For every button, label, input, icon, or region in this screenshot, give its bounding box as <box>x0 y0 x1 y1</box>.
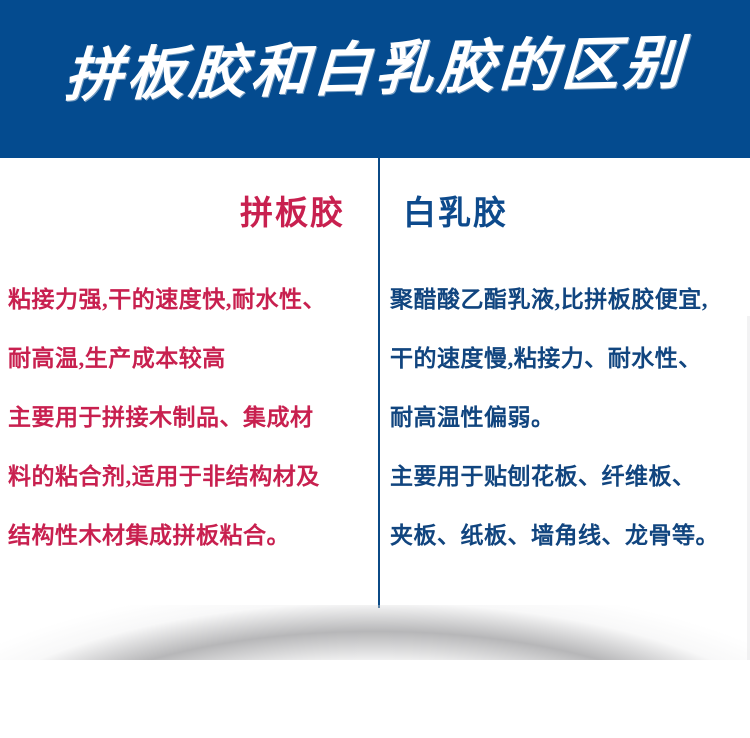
text-line: 主要用于拼接木制品、集成材 <box>0 388 370 447</box>
column-left-heading: 拼板胶 <box>240 194 345 234</box>
text-line: 料的粘合剂,适用于非结构材及 <box>0 447 370 506</box>
text-line: 聚醋酸乙酯乳液,比拼板胶便宜, <box>382 270 750 329</box>
text-line: 夹板、纸板、墙角线、龙骨等。 <box>382 506 750 565</box>
column-right-body: 聚醋酸乙酯乳液,比拼板胶便宜, 干的速度慢,粘接力、耐水性、 耐高温性偏弱。 主… <box>382 270 750 565</box>
column-left-body: 粘接力强,干的速度快,耐水性、 耐高温,生产成本较高 主要用于拼接木制品、集成材… <box>0 270 370 565</box>
text-line: 结构性木材集成拼板粘合。 <box>0 506 370 565</box>
column-right-heading: 白乳胶 <box>403 194 508 234</box>
text-line: 耐高温,生产成本较高 <box>0 329 370 388</box>
page-title: 拼板胶和白乳胶的区别 <box>0 26 750 114</box>
comparison-poster: 拼板胶和白乳胶的区别 拼板胶 粘接力强,干的速度快,耐水性、 耐高温,生产成本较… <box>0 0 750 738</box>
text-line: 主要用于贴刨花板、纤维板、 <box>382 447 750 506</box>
text-line: 粘接力强,干的速度快,耐水性、 <box>0 270 370 329</box>
text-line: 耐高温性偏弱。 <box>382 388 750 447</box>
header-banner: 拼板胶和白乳胶的区别 <box>0 0 750 158</box>
text-line: 干的速度慢,粘接力、耐水性、 <box>382 329 750 388</box>
column-divider <box>378 158 380 608</box>
bottom-white-area <box>0 660 750 738</box>
comparison-table: 拼板胶 粘接力强,干的速度快,耐水性、 耐高温,生产成本较高 主要用于拼接木制品… <box>0 158 750 610</box>
